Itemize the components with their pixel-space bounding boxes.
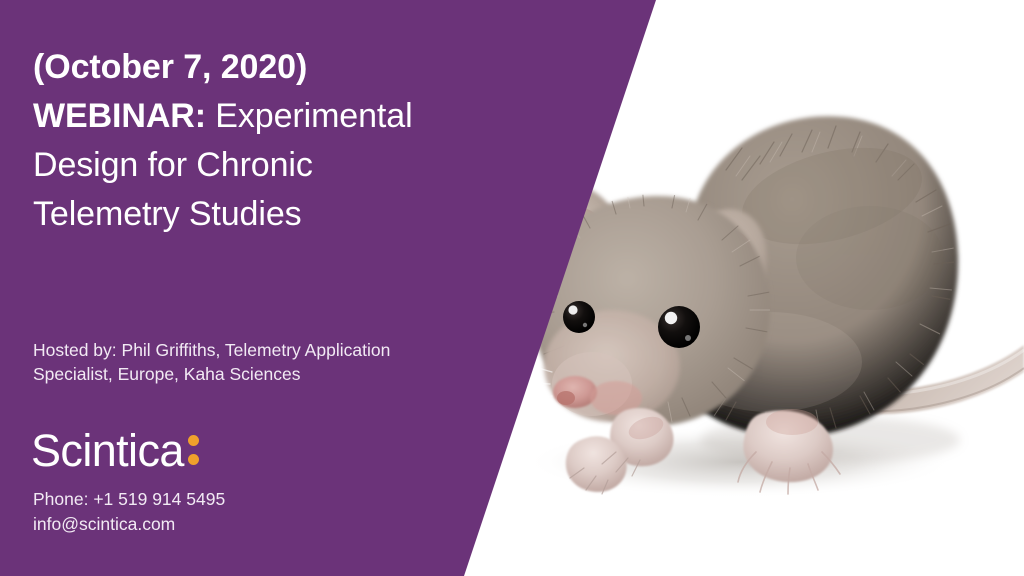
scintica-wordmark: Scintica: [31, 428, 184, 473]
scintica-logo[interactable]: Scintica: [31, 428, 199, 473]
contact-phone[interactable]: Phone: +1 519 914 5495: [33, 487, 225, 512]
headline-line-3: Design for Chronic: [33, 141, 533, 190]
hosted-by-line-1: Hosted by: Phil Griffiths, Telemetry App…: [33, 338, 503, 362]
page-title: (October 7, 2020) WEBINAR: Experimental …: [33, 43, 533, 239]
contact-info: Phone: +1 519 914 5495 info@scintica.com: [33, 487, 225, 537]
headline-date: (October 7, 2020): [33, 43, 533, 92]
hosted-by-line-2: Specialist, Europe, Kaha Sciences: [33, 362, 503, 386]
mouse-eye-left: [563, 301, 595, 333]
webinar-banner: (October 7, 2020) WEBINAR: Experimental …: [0, 0, 1024, 576]
mouse-eye-right: [658, 306, 700, 348]
headline-line-2: WEBINAR: Experimental: [33, 92, 533, 141]
colon-dot-top: [188, 435, 199, 446]
hosted-by-text: Hosted by: Phil Griffiths, Telemetry App…: [33, 338, 503, 386]
headline-line-4: Telemetry Studies: [33, 190, 533, 239]
headline-line-2-rest: Experimental: [206, 97, 413, 135]
scintica-colon-icon: [188, 435, 199, 467]
contact-email[interactable]: info@scintica.com: [33, 512, 225, 537]
headline-webinar-label: WEBINAR:: [33, 97, 206, 135]
colon-dot-bottom: [188, 454, 199, 465]
